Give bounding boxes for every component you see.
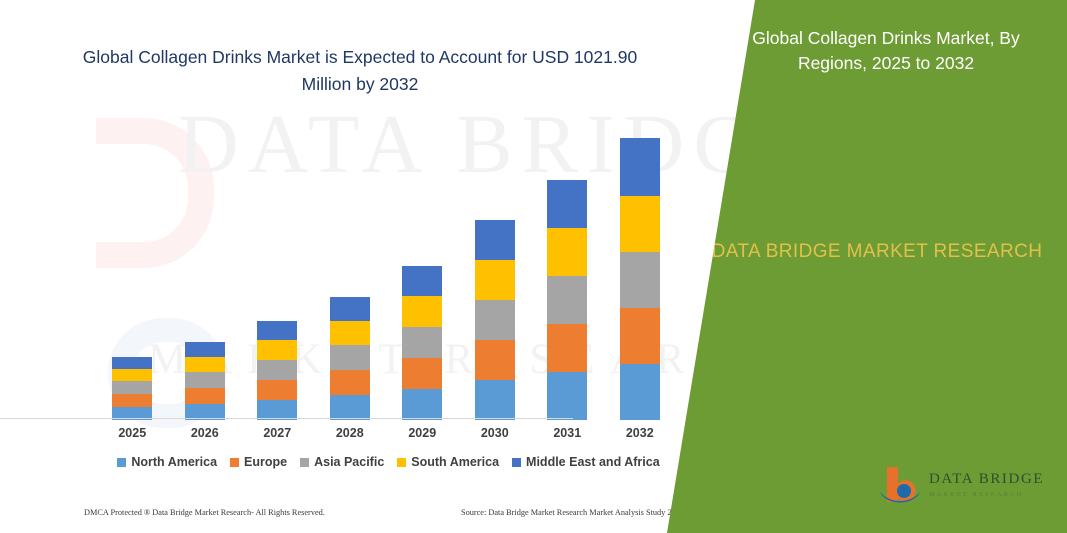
bar-segment [547, 180, 587, 228]
bar-segment [547, 324, 587, 372]
footer-source: Source: Data Bridge Market Research Mark… [461, 508, 684, 517]
bar-column [533, 122, 601, 420]
bar-segment [112, 357, 152, 369]
bar-segment [620, 364, 660, 420]
x-axis-label: 2026 [171, 426, 239, 440]
bar-segment [257, 321, 297, 340]
logo-subtitle: MARKET RESEARCH [929, 491, 1044, 498]
bar-segment [620, 252, 660, 308]
x-axis-line [0, 418, 573, 419]
logo-text-block: DATA BRIDGE MARKET RESEARCH [929, 471, 1044, 498]
legend-label: North America [131, 455, 217, 469]
x-axis-label: 2029 [388, 426, 456, 440]
legend-item[interactable]: Middle East and Africa [512, 455, 660, 469]
data-bridge-mark-icon [877, 461, 927, 511]
bar-segment [185, 357, 225, 372]
stacked-bar [330, 297, 370, 420]
chart-plot-area [96, 122, 676, 420]
bar-column [243, 122, 311, 420]
bar-segment [257, 340, 297, 360]
legend-label: Middle East and Africa [526, 455, 660, 469]
legend-item[interactable]: North America [117, 455, 217, 469]
bar-segment [620, 308, 660, 364]
bar-segment [112, 369, 152, 381]
legend-swatch-icon [230, 458, 239, 467]
bar-column [461, 122, 529, 420]
bar-segment [257, 360, 297, 380]
bar-segment [475, 340, 515, 380]
bar-column [388, 122, 456, 420]
bar-segment [620, 138, 660, 196]
bar-segment [475, 300, 515, 340]
stacked-bar [185, 342, 225, 420]
stacked-bar [620, 138, 660, 420]
bar-segment [112, 381, 152, 394]
bar-segment [185, 342, 225, 357]
stacked-bar [547, 180, 587, 420]
stacked-bar [257, 321, 297, 420]
footer: DMCA Protected ® Data Bridge Market Rese… [84, 508, 684, 517]
x-axis-label: 2027 [243, 426, 311, 440]
page-title: Global Collagen Drinks Market is Expecte… [60, 44, 660, 98]
legend-swatch-icon [397, 458, 406, 467]
legend-swatch-icon [117, 458, 126, 467]
stacked-bar [475, 220, 515, 420]
stacked-bar-chart [96, 120, 676, 420]
bar-column [98, 122, 166, 420]
bar-segment [402, 358, 442, 389]
legend-item[interactable]: South America [397, 455, 499, 469]
bar-segment [112, 394, 152, 407]
bar-segment [402, 296, 442, 327]
legend-label: Europe [244, 455, 287, 469]
bar-segment [547, 276, 587, 324]
bar-segment [547, 372, 587, 420]
bar-segment [330, 345, 370, 370]
x-axis-label: 2028 [316, 426, 384, 440]
x-axis-labels: 20252026202720282029203020312032 [96, 426, 676, 440]
company-logo: DATA BRIDGE MARKET RESEARCH [877, 461, 1057, 515]
x-axis-label: 2032 [606, 426, 674, 440]
legend-label: Asia Pacific [314, 455, 384, 469]
legend-item[interactable]: Europe [230, 455, 287, 469]
brand-name: DATA BRIDGE MARKET RESEARCH [707, 238, 1047, 265]
bar-column [171, 122, 239, 420]
bar-segment [257, 380, 297, 400]
x-axis-label: 2030 [461, 426, 529, 440]
bar-segment [547, 228, 587, 276]
bar-segment [402, 266, 442, 296]
legend-swatch-icon [512, 458, 521, 467]
bar-segment [475, 260, 515, 300]
stacked-bar [112, 357, 152, 420]
legend-label: South America [411, 455, 499, 469]
x-axis-label: 2031 [533, 426, 601, 440]
stacked-bar [402, 266, 442, 420]
bar-segment [330, 321, 370, 345]
bar-column [316, 122, 384, 420]
bar-segment [330, 370, 370, 395]
bar-segment [185, 372, 225, 388]
legend-item[interactable]: Asia Pacific [300, 455, 384, 469]
bar-segment [330, 297, 370, 321]
logo-title: DATA BRIDGE [929, 471, 1044, 488]
panel-title: Global Collagen Drinks Market, By Region… [727, 26, 1045, 76]
bar-segment [475, 380, 515, 420]
bar-segment [185, 388, 225, 404]
chart-panel: DATA BRIDGE MARKET RESEARCH Global Colla… [0, 0, 712, 533]
bar-segment [620, 196, 660, 252]
x-axis-label: 2025 [98, 426, 166, 440]
bar-column [606, 122, 674, 420]
bar-segment [402, 389, 442, 420]
footer-copyright: DMCA Protected ® Data Bridge Market Rese… [84, 508, 325, 517]
bar-segment [257, 400, 297, 420]
brand-panel: Global Collagen Drinks Market, By Region… [667, 0, 1067, 533]
bar-segment [402, 327, 442, 358]
bar-segment [330, 395, 370, 420]
chart-legend: North AmericaEuropeAsia PacificSouth Ame… [96, 455, 681, 469]
legend-swatch-icon [300, 458, 309, 467]
bar-segment [475, 220, 515, 260]
